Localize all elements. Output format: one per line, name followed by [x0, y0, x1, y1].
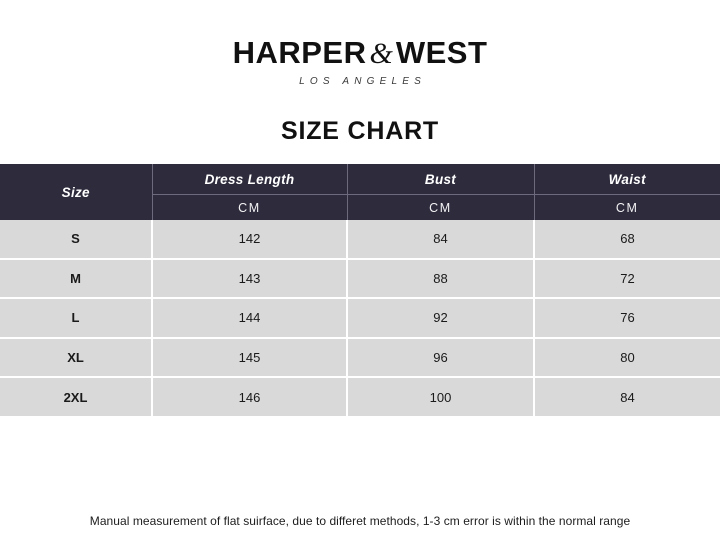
header-cell-size: Size: [0, 164, 152, 220]
page-title: SIZE CHART: [0, 117, 720, 146]
brand-name-part1: HARPER: [233, 35, 367, 70]
cell-waist: 76: [534, 298, 720, 338]
table-header: Size Dress Length Bust Waist CM CM CM: [0, 164, 720, 220]
cell-size: XL: [0, 338, 152, 378]
table-body: S 142 84 68 M 143 88 72 L 144 92 76: [0, 220, 720, 416]
cell-dress-length: 146: [152, 377, 347, 416]
brand-name-part2: WEST: [396, 35, 488, 70]
table-row: M 143 88 72: [0, 259, 720, 299]
cell-bust: 88: [347, 259, 534, 299]
cell-size: 2XL: [0, 377, 152, 416]
table-row: XL 145 96 80: [0, 338, 720, 378]
table-row: 2XL 146 100 84: [0, 377, 720, 416]
brand-name: HARPER&WEST: [0, 36, 720, 71]
measurement-disclaimer: Manual measurement of flat suirface, due…: [0, 514, 720, 528]
header-cell-waist: Waist: [534, 164, 720, 195]
header-unit-waist: CM: [534, 195, 720, 221]
cell-dress-length: 144: [152, 298, 347, 338]
size-chart-table: Size Dress Length Bust Waist CM CM CM S …: [0, 164, 720, 416]
size-chart-page: HARPER&WEST LOS ANGELES SIZE CHART Size …: [0, 0, 720, 551]
cell-dress-length: 143: [152, 259, 347, 299]
cell-size: M: [0, 259, 152, 299]
table-row: L 144 92 76: [0, 298, 720, 338]
brand-tagline: LOS ANGELES: [0, 76, 720, 87]
brand-header: HARPER&WEST LOS ANGELES: [0, 36, 720, 87]
header-unit-dress-length: CM: [152, 195, 347, 221]
size-chart-table-container: Size Dress Length Bust Waist CM CM CM S …: [0, 164, 720, 416]
cell-size: S: [0, 220, 152, 259]
header-unit-bust: CM: [347, 195, 534, 221]
cell-dress-length: 142: [152, 220, 347, 259]
cell-bust: 96: [347, 338, 534, 378]
brand-ampersand: &: [367, 37, 396, 70]
cell-bust: 92: [347, 298, 534, 338]
header-cell-dress-length: Dress Length: [152, 164, 347, 195]
cell-waist: 80: [534, 338, 720, 378]
cell-bust: 100: [347, 377, 534, 416]
cell-bust: 84: [347, 220, 534, 259]
table-header-row-measures: Size Dress Length Bust Waist: [0, 164, 720, 195]
cell-waist: 68: [534, 220, 720, 259]
table-row: S 142 84 68: [0, 220, 720, 259]
cell-size: L: [0, 298, 152, 338]
header-cell-bust: Bust: [347, 164, 534, 195]
cell-waist: 72: [534, 259, 720, 299]
cell-dress-length: 145: [152, 338, 347, 378]
cell-waist: 84: [534, 377, 720, 416]
